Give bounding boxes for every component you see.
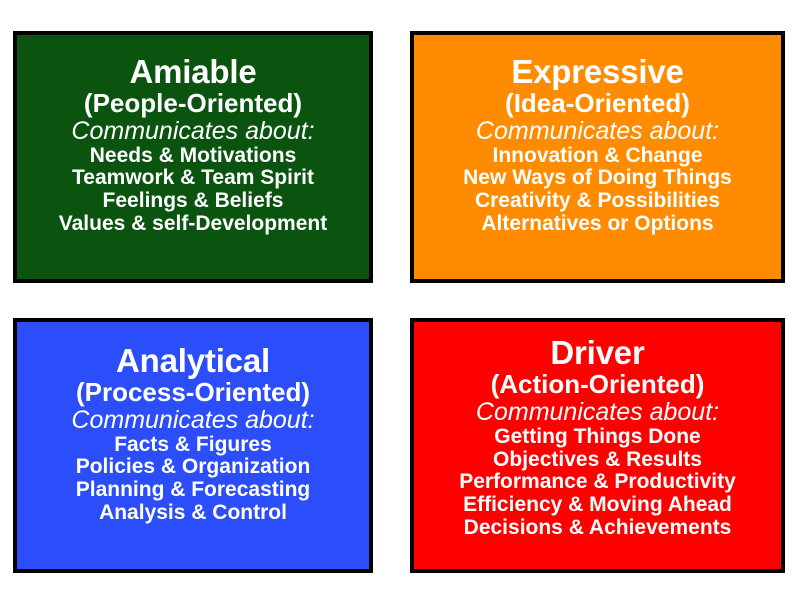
quadrant-list-item: Needs & Motivations — [17, 145, 369, 168]
quadrant-list-item: Policies & Organization — [17, 456, 369, 479]
quadrant-list-item: Performance & Productivity — [414, 471, 781, 494]
quadrant-list-item: New Ways of Doing Things — [414, 167, 781, 190]
quadrant-subtitle-expressive: (Idea-Oriented) — [505, 89, 690, 117]
quadrant-list-driver: Getting Things DoneObjectives & ResultsP… — [414, 426, 781, 540]
quadrant-lead-amiable: Communicates about: — [71, 117, 314, 145]
quadrant-list-item: Objectives & Results — [414, 449, 781, 472]
quadrant-title-expressive: Expressive — [511, 55, 683, 89]
quadrant-amiable: Amiable (People-Oriented) Communicates a… — [13, 31, 373, 283]
quadrant-title-analytical: Analytical — [116, 344, 270, 378]
quadrant-subtitle-analytical: (Process-Oriented) — [76, 378, 310, 406]
quadrant-subtitle-driver: (Action-Oriented) — [491, 370, 705, 398]
quadrant-expressive: Expressive (Idea-Oriented) Communicates … — [410, 31, 785, 283]
quadrant-list-item: Innovation & Change — [414, 145, 781, 168]
quadrant-list-item: Teamwork & Team Spirit — [17, 167, 369, 190]
quadrant-list-analytical: Facts & FiguresPolicies & OrganizationPl… — [17, 434, 369, 525]
quadrant-list-amiable: Needs & MotivationsTeamwork & Team Spiri… — [17, 145, 369, 236]
quadrant-driver: Driver (Action-Oriented) Communicates ab… — [410, 318, 785, 573]
quadrant-list-item: Feelings & Beliefs — [17, 190, 369, 213]
communication-styles-quadrant-diagram: Amiable (People-Oriented) Communicates a… — [0, 0, 800, 600]
quadrant-lead-driver: Communicates about: — [476, 398, 719, 426]
quadrant-subtitle-amiable: (People-Oriented) — [84, 89, 302, 117]
quadrant-list-item: Getting Things Done — [414, 426, 781, 449]
quadrant-list-item: Analysis & Control — [17, 502, 369, 525]
quadrant-lead-analytical: Communicates about: — [71, 406, 314, 434]
quadrant-list-item: Creativity & Possibilities — [414, 190, 781, 213]
quadrant-list-expressive: Innovation & ChangeNew Ways of Doing Thi… — [414, 145, 781, 236]
quadrant-lead-expressive: Communicates about: — [476, 117, 719, 145]
quadrant-list-item: Values & self-Development — [17, 213, 369, 236]
quadrant-title-amiable: Amiable — [130, 55, 257, 89]
quadrant-list-item: Facts & Figures — [17, 434, 369, 457]
quadrant-list-item: Decisions & Achievements — [414, 517, 781, 540]
quadrant-list-item: Efficiency & Moving Ahead — [414, 494, 781, 517]
quadrant-list-item: Planning & Forecasting — [17, 479, 369, 502]
quadrant-analytical: Analytical (Process-Oriented) Communicat… — [13, 318, 373, 573]
quadrant-title-driver: Driver — [550, 336, 644, 370]
quadrant-list-item: Alternatives or Options — [414, 213, 781, 236]
